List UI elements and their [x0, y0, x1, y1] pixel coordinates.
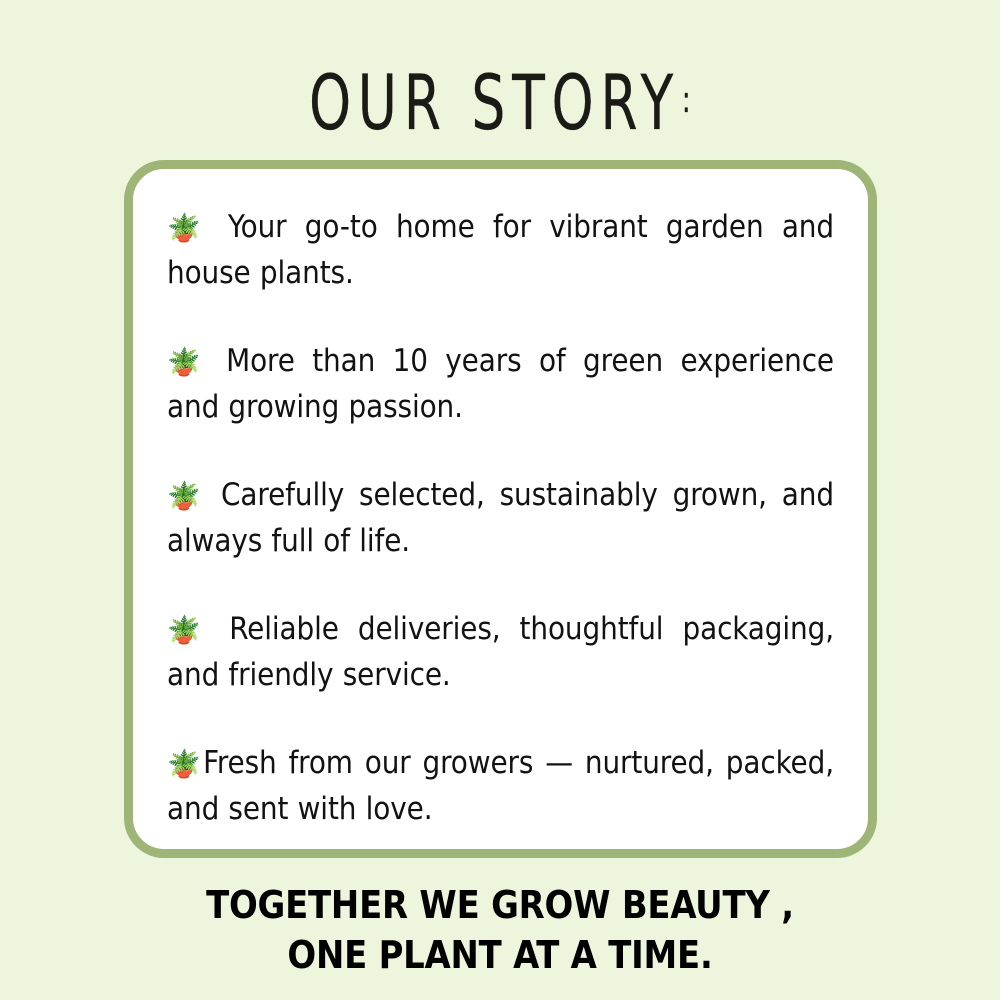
story-item-5-line1: 🪴Fresh from our growers — nurtured, pack…	[167, 741, 834, 787]
story-item-2-line1: 🪴 More than 10 years of green experience	[167, 339, 834, 385]
potted-plant-icon: 🪴	[167, 615, 210, 646]
page-title-container: OUR STORY:	[0, 56, 1000, 146]
story-item-4-line1-text: Reliable deliveries, thoughtful packagin…	[210, 611, 834, 647]
story-item-5-line1-text: Fresh from our growers — nurtured, packe…	[203, 745, 834, 781]
story-item-3-line2: always full of life.	[167, 519, 834, 563]
footer-tagline-line1: TOGETHER WE GROW BEAUTY ,	[5, 880, 995, 930]
story-item-3-line1-text: Carefully selected, sustainably grown, a…	[206, 477, 834, 513]
potted-plant-icon: 🪴	[167, 481, 206, 512]
page-title-text: OUR STORY	[309, 58, 680, 147]
story-item-1-line1: 🪴 Your go-to home for vibrant garden and	[167, 205, 834, 251]
story-item-4: 🪴 Reliable deliveries, thoughtful packag…	[167, 607, 834, 697]
poster-canvas: OUR STORY: 🪴 Your go-to home for vibrant…	[0, 0, 1000, 1000]
story-item-1: 🪴 Your go-to home for vibrant garden and…	[167, 205, 834, 295]
story-item-4-line2: and friendly service.	[167, 653, 834, 697]
story-item-5: 🪴Fresh from our growers — nurtured, pack…	[167, 741, 834, 831]
footer-tagline-line2: ONE PLANT AT A TIME.	[5, 930, 995, 980]
story-item-2-line1-text: More than 10 years of green experience	[209, 343, 834, 379]
story-list: 🪴 Your go-to home for vibrant garden and…	[167, 205, 834, 831]
footer-tagline: TOGETHER WE GROW BEAUTY , ONE PLANT AT A…	[0, 880, 1000, 980]
story-item-5-line2: and sent with love.	[167, 787, 834, 831]
story-item-3: 🪴 Carefully selected, sustainably grown,…	[167, 473, 834, 563]
story-item-2-line2: and growing passion.	[167, 385, 834, 429]
story-card: 🪴 Your go-to home for vibrant garden and…	[124, 160, 877, 858]
story-item-1-line2: house plants.	[167, 251, 834, 295]
story-item-2: 🪴 More than 10 years of green experience…	[167, 339, 834, 429]
potted-plant-icon: 🪴	[167, 347, 209, 378]
story-item-3-line1: 🪴 Carefully selected, sustainably grown,…	[167, 473, 834, 519]
story-item-4-line1: 🪴 Reliable deliveries, thoughtful packag…	[167, 607, 834, 653]
story-item-1-line1-text: Your go-to home for vibrant garden and	[210, 209, 834, 245]
page-title-colon: :	[682, 79, 691, 122]
potted-plant-icon: 🪴	[167, 749, 203, 780]
potted-plant-icon: 🪴	[167, 213, 210, 244]
page-title: OUR STORY:	[309, 56, 691, 149]
